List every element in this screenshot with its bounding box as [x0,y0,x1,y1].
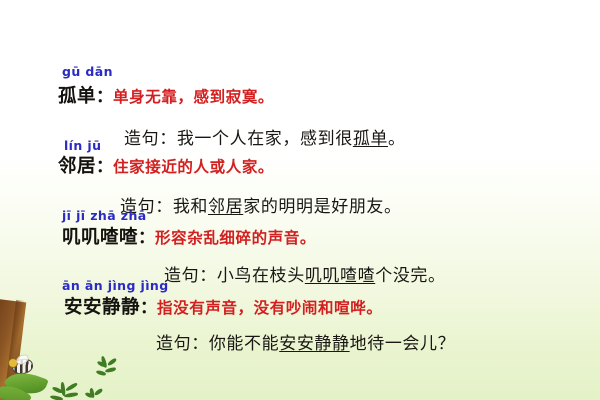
sentence-text-after: 地待一会儿？ [350,334,456,354]
colon-separator: ： [138,228,155,248]
colon-separator: ： [96,87,113,107]
sentence-prefix: 造句： [164,266,217,286]
sentence-highlight-word: 邻居 [208,197,243,217]
colon-separator: ： [96,157,113,177]
sentence-highlight-word: 安安静静 [279,334,349,354]
pinyin-label: lín jū [64,140,101,153]
sentence-prefix: 造句： [124,129,177,149]
sentence-highlight-word: 孤单 [353,129,388,149]
vocabulary-word: 邻居 [58,156,96,177]
vocabulary-word: 安安静静 [64,297,140,318]
sentence-text-before: 小鸟在枝头 [217,266,305,286]
sentence-text-after: 家的明明是好朋友。 [243,197,401,217]
example-sentence: 造句：小鸟在枝头叽叽喳喳个没完。 [164,268,446,285]
sentence-prefix: 造句： [156,334,209,354]
sentence-text-before: 你能不能 [209,334,279,354]
vocabulary-word: 孤单 [58,86,96,107]
example-sentence: 造句：我一个人在家，感到很孤单。 [124,131,406,148]
word-definition-line: 安安静静：指没有声音，没有吵闹和喧哗。 [64,299,382,318]
word-definition: 形容杂乱细碎的声音。 [155,228,316,247]
word-definition-line: 邻居：住家接近的人或人家。 [58,158,274,177]
sentence-text-after: 。 [388,129,406,149]
example-sentence: 造句：我和邻居家的明明是好朋友。 [120,199,402,216]
pinyin-label: ān ān jìng jìng [62,280,169,293]
pinyin-label: gū dān [62,66,113,79]
word-definition: 指没有声音，没有吵闹和喧哗。 [157,298,382,317]
word-definition-line: 孤单：单身无靠，感到寂寞。 [58,88,274,107]
sentence-text-after: 个没完。 [375,266,445,286]
word-definition-line: 叽叽喳喳：形容杂乱细碎的声音。 [62,229,316,248]
word-definition: 单身无靠，感到寂寞。 [113,87,274,106]
pinyin-label: jī jī zhā zhā [62,210,147,223]
colon-separator: ： [140,298,157,318]
lesson-slide: gū dān 孤单：单身无靠，感到寂寞。 造句：我一个人在家，感到很孤单。 lí… [0,0,600,400]
example-sentence: 造句：你能不能安安静静地待一会儿？ [156,336,455,353]
vocabulary-word: 叽叽喳喳 [62,227,138,248]
sentence-highlight-word: 叽叽喳喳 [305,266,375,286]
sentence-text-before: 我和 [173,197,208,217]
sentence-text-before: 我一个人在家，感到很 [177,129,353,149]
word-definition: 住家接近的人或人家。 [113,157,274,176]
